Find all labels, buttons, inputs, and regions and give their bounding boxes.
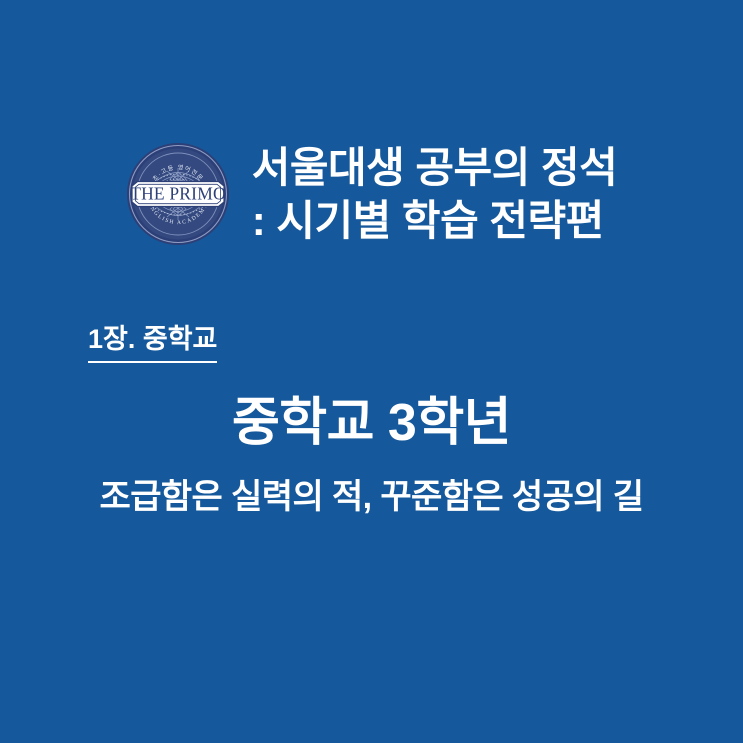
badge-icon: ENGLISH ACADEMY 초·고등 영어전문 THE PRIMO [126,142,230,246]
title-line-2: : 시기별 학습 전략편 [252,194,618,247]
chapter-label: 1장. 중학교 [88,322,217,363]
logo-wordmark: THE PRIMO [130,184,226,204]
title-line-1: 서울대생 공부의 정석 [252,141,618,194]
page-title: 중학교 3학년 [0,392,743,454]
tagline: 조급함은 실력의 적, 꾸준함은 성공의 길 [0,475,743,519]
slide-title: 서울대생 공부의 정석 : 시기별 학습 전략편 [252,141,618,247]
slide-header: ENGLISH ACADEMY 초·고등 영어전문 THE PRIMO 서울대생… [0,131,743,257]
slide-canvas: ENGLISH ACADEMY 초·고등 영어전문 THE PRIMO 서울대생… [0,0,743,743]
academy-logo: ENGLISH ACADEMY 초·고등 영어전문 THE PRIMO [126,142,230,246]
